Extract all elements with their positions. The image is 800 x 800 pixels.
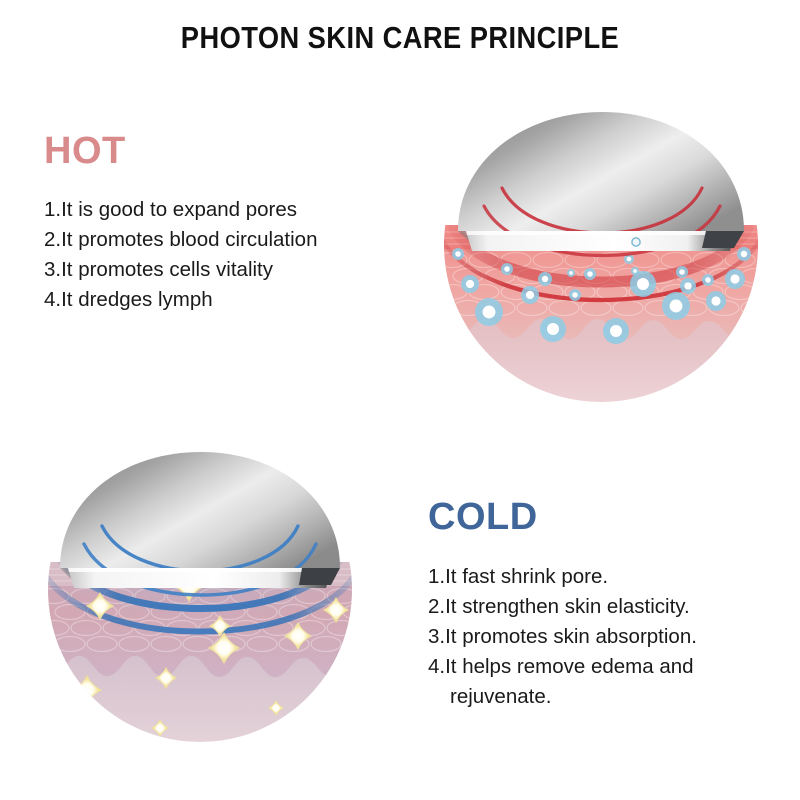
list-item-number: 4. — [44, 288, 61, 311]
bubble-core — [711, 296, 720, 305]
bubble-core — [741, 251, 747, 257]
list-item: 4.It helps remove edema andrejuvenate. — [428, 652, 798, 712]
bubble-core — [610, 325, 622, 337]
bubble-core — [526, 291, 534, 299]
bubble-core — [730, 274, 739, 283]
bubble-core — [684, 282, 691, 289]
cold-diagram-svg — [48, 438, 352, 742]
bubble-core — [633, 269, 637, 273]
bubble-core — [679, 269, 685, 275]
list-item-number: 2. — [44, 228, 61, 251]
bubble-core — [542, 276, 548, 282]
list-item-text: It fast shrink pore. — [445, 565, 608, 588]
hot-section-text: HOT 1.It is good to expand pores 2.It pr… — [44, 132, 444, 315]
list-item-text: It dredges lymph — [61, 288, 213, 311]
bubble-core — [670, 300, 683, 313]
bubble-core — [637, 278, 649, 290]
list-item-number: 1. — [428, 565, 445, 588]
list-item-number: 2. — [428, 595, 445, 618]
list-item-number: 4. — [428, 655, 445, 678]
list-item-text: It helps remove edema and — [445, 655, 693, 678]
list-item: 3.It promotes skin absorption. — [428, 622, 798, 652]
device-dome — [60, 452, 340, 568]
hot-heading: HOT — [44, 132, 444, 170]
list-item-number: 3. — [428, 625, 445, 648]
list-item-text-continued: rejuvenate. — [428, 682, 798, 712]
bubble-core — [587, 271, 593, 277]
list-item: 2.It strengthen skin elasticity. — [428, 592, 798, 622]
device-led-icon — [632, 238, 640, 246]
cold-heading: COLD — [428, 498, 798, 536]
list-item-text: It promotes blood circulation — [61, 228, 317, 251]
bubble-core — [483, 306, 496, 319]
cold-section-text: COLD 1.It fast shrink pore. 2.It strengt… — [428, 498, 798, 712]
bubble-core — [547, 323, 559, 335]
cold-skin-diagram — [48, 438, 352, 742]
list-item: 2.It promotes blood circulation — [44, 225, 444, 255]
hot-benefits-list: 1.It is good to expand pores 2.It promot… — [44, 195, 444, 315]
photon-device-head — [60, 452, 340, 595]
bubble-core — [569, 271, 573, 275]
hot-skin-diagram — [444, 88, 758, 402]
list-item-text: It promotes skin absorption. — [445, 625, 697, 648]
hot-diagram-svg — [444, 88, 758, 402]
list-item: 1.It is good to expand pores — [44, 195, 444, 225]
sparkle-icon — [326, 677, 348, 699]
bubble-core — [705, 277, 711, 283]
list-item-text: It promotes cells vitality — [61, 258, 273, 281]
list-item: 4.It dredges lymph — [44, 285, 444, 315]
list-item: 3.It promotes cells vitality — [44, 255, 444, 285]
list-item: 1.It fast shrink pore. — [428, 562, 798, 592]
list-item-number: 1. — [44, 198, 61, 221]
bubble-core — [455, 251, 461, 257]
bubble-core — [627, 257, 632, 262]
bubble-core — [466, 280, 474, 288]
list-item-text: It is good to expand pores — [61, 198, 297, 221]
page-title: PHOTON SKIN CARE PRINCIPLE — [48, 20, 752, 56]
bubble-core — [572, 292, 578, 298]
cold-benefits-list: 1.It fast shrink pore. 2.It strengthen s… — [428, 562, 798, 712]
list-item-text: It strengthen skin elasticity. — [445, 595, 690, 618]
list-item-number: 3. — [44, 258, 61, 281]
bubble-core — [504, 266, 510, 272]
